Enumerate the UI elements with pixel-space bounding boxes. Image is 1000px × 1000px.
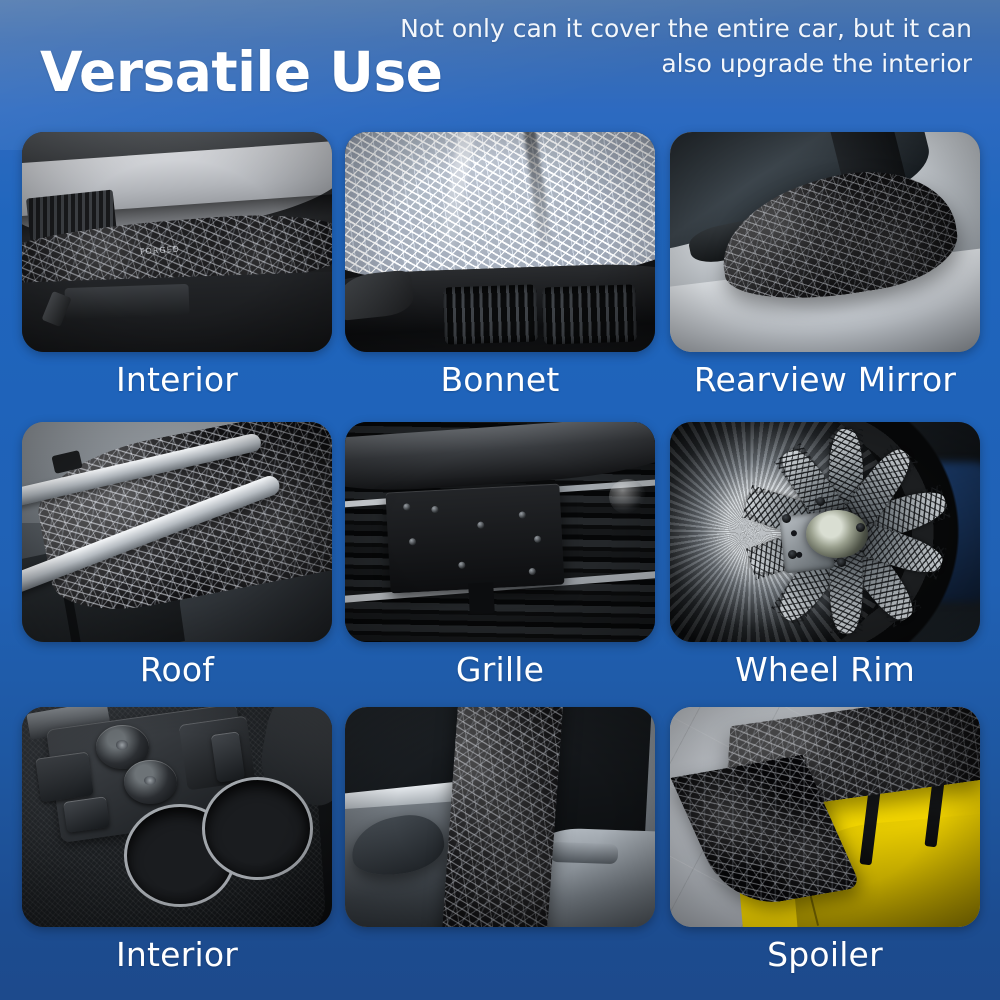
feature-grid: FORGED Interior [0,132,1000,1000]
feature-cell-spoiler[interactable]: Spoiler [670,707,980,989]
photo-roof [22,422,332,642]
photo-door-pillar [345,707,655,927]
photo-bonnet [345,132,655,352]
feature-label: Bonnet [345,354,655,406]
feature-label: Roof [22,644,332,696]
photo-wheel-rim [670,422,980,642]
feature-cell-interior-console[interactable]: Interior [22,707,332,989]
photo-grille [345,422,655,642]
feature-label: Wheel Rim [670,644,980,696]
feature-label: Rearview Mirror [670,354,980,406]
thumbnail-grille[interactable] [345,422,655,642]
thumbnail-roof[interactable] [22,422,332,642]
product-feature-banner: Versatile Use Not only can it cover the … [0,0,1000,1000]
thumbnail-spoiler[interactable] [670,707,980,927]
banner-header: Versatile Use Not only can it cover the … [0,0,1000,120]
thumbnail-interior-dashboard[interactable]: FORGED [22,132,332,352]
feature-cell-door-pillar[interactable] [345,707,655,989]
feature-row: Roof [0,422,1000,704]
photo-spoiler [670,707,980,927]
feature-cell-bonnet[interactable]: Bonnet [345,132,655,414]
feature-cell-interior-dashboard[interactable]: FORGED Interior [22,132,332,414]
feature-row: Interior [0,707,1000,989]
page-subtitle: Not only can it cover the entire car, bu… [362,12,972,81]
feature-label: Spoiler [670,929,980,981]
thumbnail-bonnet[interactable] [345,132,655,352]
feature-cell-rearview-mirror[interactable]: Rearview Mirror [670,132,980,414]
feature-label: Grille [345,644,655,696]
thumbnail-interior-console[interactable] [22,707,332,927]
feature-cell-grille[interactable]: Grille [345,422,655,704]
thumbnail-door-pillar[interactable] [345,707,655,927]
feature-row: FORGED Interior [0,132,1000,414]
feature-label: Interior [22,929,332,981]
feature-cell-roof[interactable]: Roof [22,422,332,704]
thumbnail-rearview-mirror[interactable] [670,132,980,352]
feature-cell-wheel-rim[interactable]: Wheel Rim [670,422,980,704]
photo-interior-dashboard: FORGED [22,132,332,352]
photo-interior-console [22,707,332,927]
thumbnail-wheel-rim[interactable] [670,422,980,642]
photo-rearview-mirror [670,132,980,352]
feature-label: Interior [22,354,332,406]
